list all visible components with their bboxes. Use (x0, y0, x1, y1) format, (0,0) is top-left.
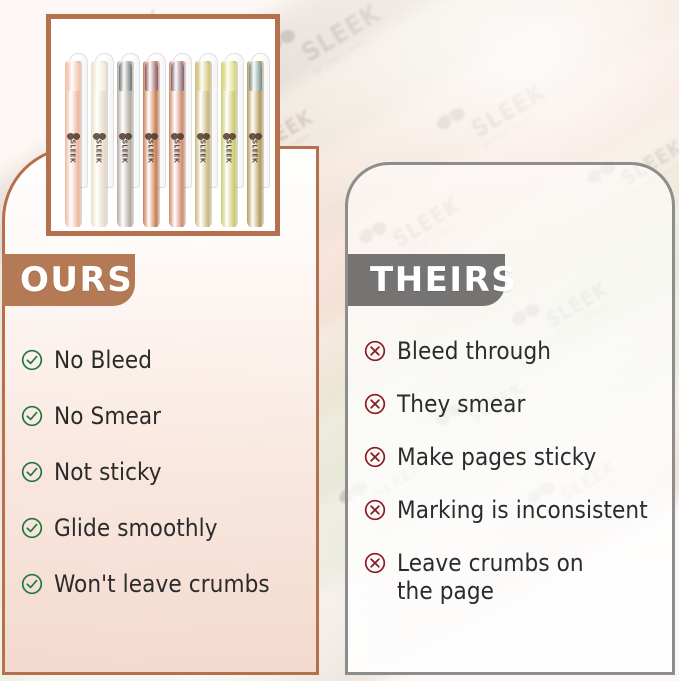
theirs-list-item: They smear (364, 390, 679, 418)
ours-list-item: Glide smoothly (21, 514, 332, 542)
theirs-list-item: Marking is inconsistent (364, 496, 679, 524)
cross-circle-icon (364, 499, 386, 521)
theirs-list-item: Bleed through (364, 337, 679, 365)
pen-olive: SLEEK (195, 39, 212, 227)
ours-list-item-label: Not sticky (54, 458, 162, 486)
product-photo-inset: SLEEKSLEEKSLEEKSLEEKSLEEKSLEEKSLEEKSLEEK (46, 14, 280, 236)
cross-circle-icon (364, 340, 386, 362)
check-circle-icon (21, 517, 43, 539)
crayon-tip (119, 61, 132, 91)
ours-badge-label: OURS (20, 260, 133, 300)
cross-circle-icon (364, 446, 386, 468)
cross-circle-icon (364, 393, 386, 415)
cross-circle-icon (364, 552, 386, 574)
crayon-brand-label: SLEEK (244, 131, 267, 179)
theirs-list-item-label: Leave crumbs on the page (397, 549, 584, 605)
ours-benefit-list: No BleedNo SmearNot stickyGlide smoothly… (5, 346, 332, 626)
theirs-badge: THEIRS (348, 254, 505, 306)
theirs-drawback-list: Bleed throughThey smearMake pages sticky… (348, 337, 679, 630)
crayon-brand-label: SLEEK (218, 131, 241, 179)
ours-list-item-label: Glide smoothly (54, 514, 218, 542)
theirs-list-item-label: Bleed through (397, 337, 551, 365)
crayon-brand-label: SLEEK (88, 131, 111, 179)
theirs-list-item-label: Make pages sticky (397, 443, 596, 471)
pen-pink: SLEEK (65, 39, 82, 227)
crayon-tip (145, 61, 158, 91)
check-circle-icon (21, 461, 43, 483)
ours-list-item: Not sticky (21, 458, 332, 486)
crayon-brand-label: SLEEK (140, 131, 163, 179)
crayon-tip (67, 61, 80, 91)
crayon-brand-label: SLEEK (114, 131, 137, 179)
theirs-badge-label: THEIRS (370, 260, 517, 300)
check-circle-icon (21, 405, 43, 427)
product-photo-canvas: SLEEKSLEEKSLEEKSLEEKSLEEKSLEEKSLEEKSLEEK (55, 23, 271, 227)
ours-badge: OURS (2, 254, 135, 306)
crayon-tip (197, 61, 210, 91)
pen-teal: SLEEK (247, 39, 264, 227)
crayon-tip (93, 61, 106, 91)
crayon-tip (223, 61, 236, 91)
theirs-panel: Bleed throughThey smearMake pages sticky… (345, 162, 675, 675)
ours-list-item-label: No Smear (54, 402, 161, 430)
theirs-list-item-label: Marking is inconsistent (397, 496, 648, 524)
crayon-brand-label: SLEEK (192, 131, 215, 179)
ours-list-item: No Bleed (21, 346, 332, 374)
pen-copper: SLEEK (143, 39, 160, 227)
pen-gray: SLEEK (117, 39, 134, 227)
theirs-list-item-label: They smear (397, 390, 525, 418)
ours-list-item: No Smear (21, 402, 332, 430)
pen-cream: SLEEK (91, 39, 108, 227)
crayon-tip (249, 61, 262, 91)
check-circle-icon (21, 573, 43, 595)
crayon-brand-label: SLEEK (62, 131, 85, 179)
ours-list-item-label: Won't leave crumbs (54, 570, 270, 598)
check-circle-icon (21, 349, 43, 371)
pen-rose: SLEEK (169, 39, 186, 227)
crayon-brand-label: SLEEK (166, 131, 189, 179)
theirs-list-item: Leave crumbs on the page (364, 549, 679, 605)
pen-yellowgreen: SLEEK (221, 39, 238, 227)
theirs-list-item: Make pages sticky (364, 443, 679, 471)
crayon-tip (171, 61, 184, 91)
ours-list-item-label: No Bleed (54, 346, 152, 374)
ours-list-item: Won't leave crumbs (21, 570, 332, 598)
